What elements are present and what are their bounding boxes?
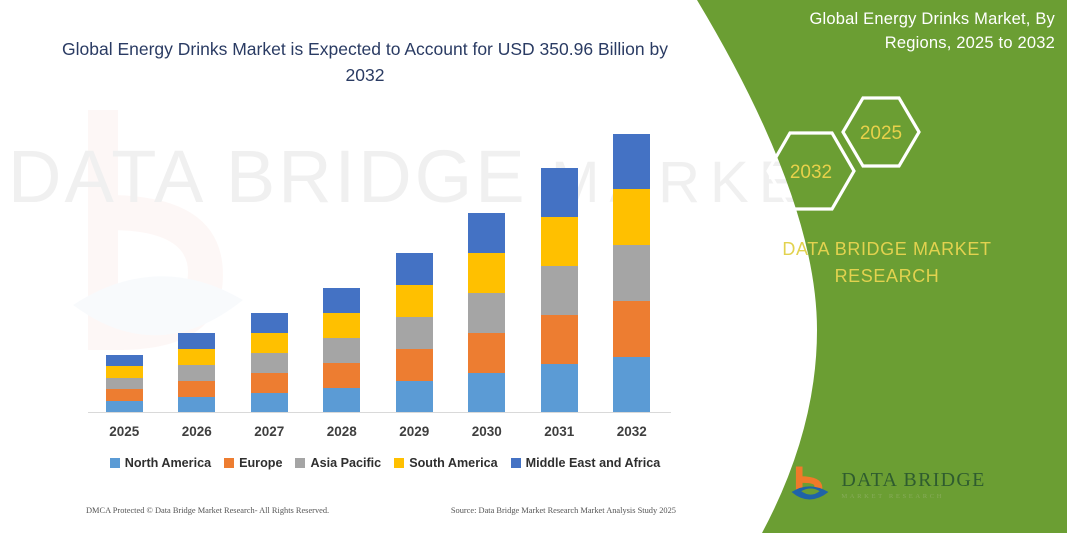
legend-label: Europe: [239, 456, 282, 470]
legend-label: Asia Pacific: [310, 456, 381, 470]
bar-stack-2028[interactable]: [323, 288, 360, 413]
bar-segment[interactable]: [251, 313, 288, 333]
legend-swatch: [110, 458, 120, 468]
x-axis-label-2025: 2025: [91, 424, 157, 439]
bar-segment[interactable]: [178, 365, 215, 381]
chart-area: DATA BRIDGE MARKET RESEARCH Global Energ…: [0, 0, 700, 533]
hexagon-label-2032: 2032: [790, 162, 832, 183]
bar-segment[interactable]: [396, 317, 433, 349]
data-bridge-logo-icon: [788, 463, 832, 507]
bar-segment[interactable]: [468, 213, 505, 253]
legend-label: North America: [125, 456, 211, 470]
bar-segment[interactable]: [613, 134, 650, 189]
bar-stack-2031[interactable]: [541, 168, 578, 413]
legend-item[interactable]: South America: [394, 456, 497, 470]
logo-subtitle: MARKET RESEARCH: [841, 494, 985, 501]
x-axis-label-2029: 2029: [381, 424, 447, 439]
legend-label: Middle East and Africa: [526, 456, 661, 470]
bar-stack-2026[interactable]: [178, 333, 215, 413]
legend-swatch: [224, 458, 234, 468]
brand-name-line-2: RESEARCH: [707, 263, 1067, 290]
chart-legend: North AmericaEuropeAsia PacificSouth Ame…: [92, 456, 678, 470]
logo-text: DATA BRIDGE MARKET RESEARCH: [841, 470, 985, 501]
hexagon-badge-2025: 2025: [840, 95, 922, 169]
green-panel: Global Energy Drinks Market, By Regions,…: [667, 0, 1067, 533]
bar-segment[interactable]: [396, 285, 433, 317]
bar-segment[interactable]: [251, 333, 288, 353]
bar-segment[interactable]: [541, 266, 578, 315]
bar-segment[interactable]: [106, 366, 143, 378]
bar-segment[interactable]: [613, 189, 650, 245]
footer-copyright: DMCA Protected © Data Bridge Market Rese…: [86, 506, 329, 515]
footer: DMCA Protected © Data Bridge Market Rese…: [86, 506, 676, 515]
legend-swatch: [511, 458, 521, 468]
bar-segment[interactable]: [106, 389, 143, 401]
axis-baseline: [88, 412, 671, 413]
bar-segment[interactable]: [251, 393, 288, 413]
x-axis-label-2031: 2031: [526, 424, 592, 439]
logo-title: DATA BRIDGE: [841, 470, 985, 490]
bar-segment[interactable]: [396, 349, 433, 381]
green-panel-content: Global Energy Drinks Market, By Regions,…: [707, 0, 1067, 533]
bar-segment[interactable]: [323, 388, 360, 413]
bar-segment[interactable]: [251, 373, 288, 393]
bar-segment[interactable]: [323, 313, 360, 338]
x-axis-label-2028: 2028: [309, 424, 375, 439]
bar-segment[interactable]: [613, 357, 650, 413]
legend-label: South America: [409, 456, 497, 470]
bar-segment[interactable]: [541, 217, 578, 266]
chart-title: Global Energy Drinks Market is Expected …: [60, 36, 670, 89]
legend-item[interactable]: North America: [110, 456, 211, 470]
legend-item[interactable]: Europe: [224, 456, 282, 470]
footer-source: Source: Data Bridge Market Research Mark…: [451, 506, 676, 515]
bar-segment[interactable]: [468, 253, 505, 293]
legend-item[interactable]: Asia Pacific: [295, 456, 381, 470]
bar-segment[interactable]: [178, 381, 215, 397]
bar-segment[interactable]: [178, 349, 215, 365]
bar-segment[interactable]: [396, 381, 433, 413]
legend-swatch: [295, 458, 305, 468]
bar-segment[interactable]: [323, 338, 360, 363]
bar-segment[interactable]: [396, 253, 433, 285]
bar-segment[interactable]: [323, 363, 360, 388]
bar-segment[interactable]: [106, 355, 143, 366]
brand-name: DATA BRIDGE MARKET RESEARCH: [707, 236, 1067, 290]
bar-segment[interactable]: [541, 315, 578, 364]
brand-name-line-1: DATA BRIDGE MARKET: [782, 239, 991, 259]
bar-stack-2025[interactable]: [106, 355, 143, 413]
bar-segment[interactable]: [468, 293, 505, 333]
bar-segment[interactable]: [323, 288, 360, 313]
bar-segment[interactable]: [613, 301, 650, 357]
infographic-root: DATA BRIDGE MARKET RESEARCH Global Energ…: [0, 0, 1067, 533]
x-axis-label-2026: 2026: [164, 424, 230, 439]
legend-swatch: [394, 458, 404, 468]
hexagon-label-2025: 2025: [860, 123, 902, 144]
bar-segment[interactable]: [251, 353, 288, 373]
x-axis-label-2030: 2030: [454, 424, 520, 439]
bar-segment[interactable]: [541, 364, 578, 413]
x-axis-labels: 20252026202720282029203020312032: [88, 424, 668, 446]
bar-segment[interactable]: [613, 245, 650, 301]
bar-stack-2029[interactable]: [396, 253, 433, 413]
bar-stack-2027[interactable]: [251, 313, 288, 413]
bar-segment[interactable]: [541, 168, 578, 217]
panel-title: Global Energy Drinks Market, By Regions,…: [765, 8, 1055, 56]
legend-item[interactable]: Middle East and Africa: [511, 456, 661, 470]
company-logo: DATA BRIDGE MARKET RESEARCH: [707, 463, 1067, 507]
bar-chart-plot: [88, 110, 668, 413]
bar-segment[interactable]: [178, 397, 215, 413]
bar-stack-2030[interactable]: [468, 213, 505, 413]
x-axis-label-2027: 2027: [236, 424, 302, 439]
bar-segment[interactable]: [178, 333, 215, 349]
bar-segment[interactable]: [106, 378, 143, 389]
bar-segment[interactable]: [468, 333, 505, 373]
x-axis-label-2032: 2032: [599, 424, 665, 439]
bar-segment[interactable]: [468, 373, 505, 413]
bar-stack-2032[interactable]: [613, 134, 650, 413]
